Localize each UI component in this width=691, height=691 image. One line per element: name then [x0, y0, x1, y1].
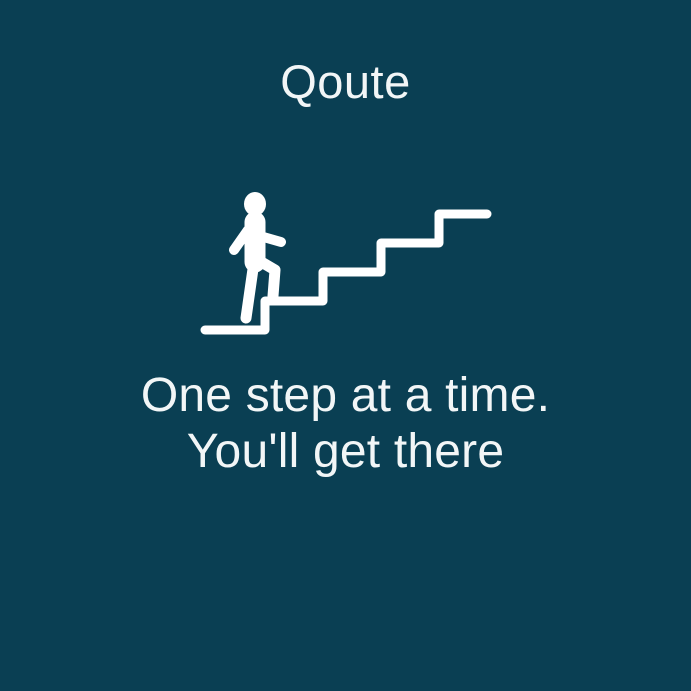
illustration-container [0, 178, 691, 346]
quote-line-1: One step at a time. [0, 368, 691, 424]
page-title: Qoute [0, 58, 691, 105]
quote-poster: Qoute One step at a time. You'll get the… [0, 0, 691, 691]
quote-line-2: You'll get there [0, 424, 691, 480]
person-climbing-stairs-icon [196, 178, 496, 346]
quote-text: One step at a time. You'll get there [0, 368, 691, 480]
